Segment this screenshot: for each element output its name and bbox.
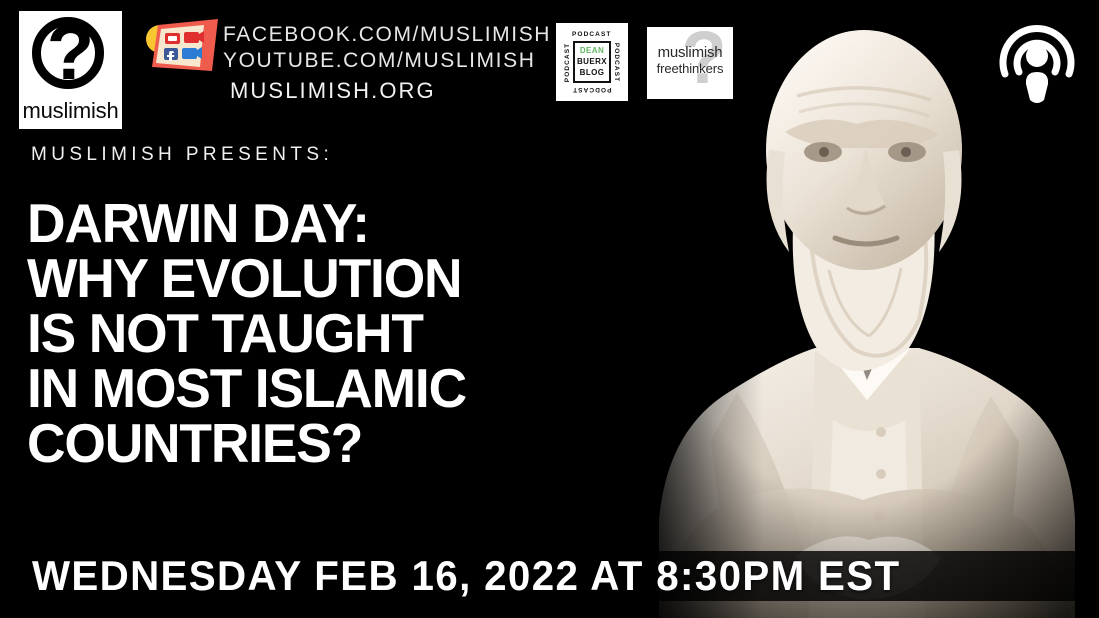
podcast-word-right: PODCAST: [613, 43, 620, 82]
podcast-badge: PODCAST PODCAST PODCAST PODCAST DEAN BUE…: [556, 23, 628, 101]
social-urls: FACEBOOK.COM/MUSLIMISH YOUTUBE.COM/MUSLI…: [223, 22, 551, 104]
event-poster: ? muslimish FACEBOOK.COM/MUSLIMISH YOUTU…: [0, 0, 1099, 618]
youtube-url[interactable]: YOUTUBE.COM/MUSLIMISH: [223, 48, 551, 74]
headline-line-3: IS NOT TAUGHT: [27, 306, 667, 361]
headline-line-2: WHY EVOLUTION: [27, 251, 667, 306]
facebook-youtube-live-card-icon: [144, 17, 224, 81]
podcast-inner-line-3: BLOG: [580, 68, 605, 78]
apple-podcasts-icon: [995, 14, 1079, 106]
podcast-inner-line-1: DEAN: [580, 46, 604, 56]
logo-wordmark: muslimish: [23, 100, 119, 122]
podcast-badge-inner-box: DEAN BUERX BLOG: [573, 41, 611, 83]
headline: DARWIN DAY: WHY EVOLUTION IS NOT TAUGHT …: [27, 196, 687, 471]
facebook-url[interactable]: FACEBOOK.COM/MUSLIMISH: [223, 22, 551, 48]
podcast-word-left: PODCAST: [564, 43, 571, 82]
podcast-word-bottom: PODCAST: [572, 86, 611, 93]
podcast-word-top: PODCAST: [572, 31, 611, 38]
headline-line-1: DARWIN DAY:: [27, 196, 667, 251]
podcast-inner-line-2: BUERX: [577, 57, 607, 67]
event-datetime: WEDNESDAY FEB 16, 2022 AT 8:30PM EST: [32, 552, 901, 600]
website-url[interactable]: MUSLIMISH.ORG: [223, 78, 551, 104]
muslimish-logo: ? muslimish: [19, 11, 122, 129]
presents-label: MUSLIMISH PRESENTS:: [31, 144, 333, 166]
freethinkers-line-1: muslimish: [647, 45, 733, 61]
headline-line-4: IN MOST ISLAMIC: [27, 361, 667, 416]
freethinkers-line-2: freethinkers: [647, 61, 733, 76]
headline-line-5: COUNTRIES?: [27, 416, 667, 471]
muslimish-freethinkers-badge: ? muslimish freethinkers: [647, 27, 733, 99]
question-mark-logo-icon: ?: [27, 14, 115, 102]
